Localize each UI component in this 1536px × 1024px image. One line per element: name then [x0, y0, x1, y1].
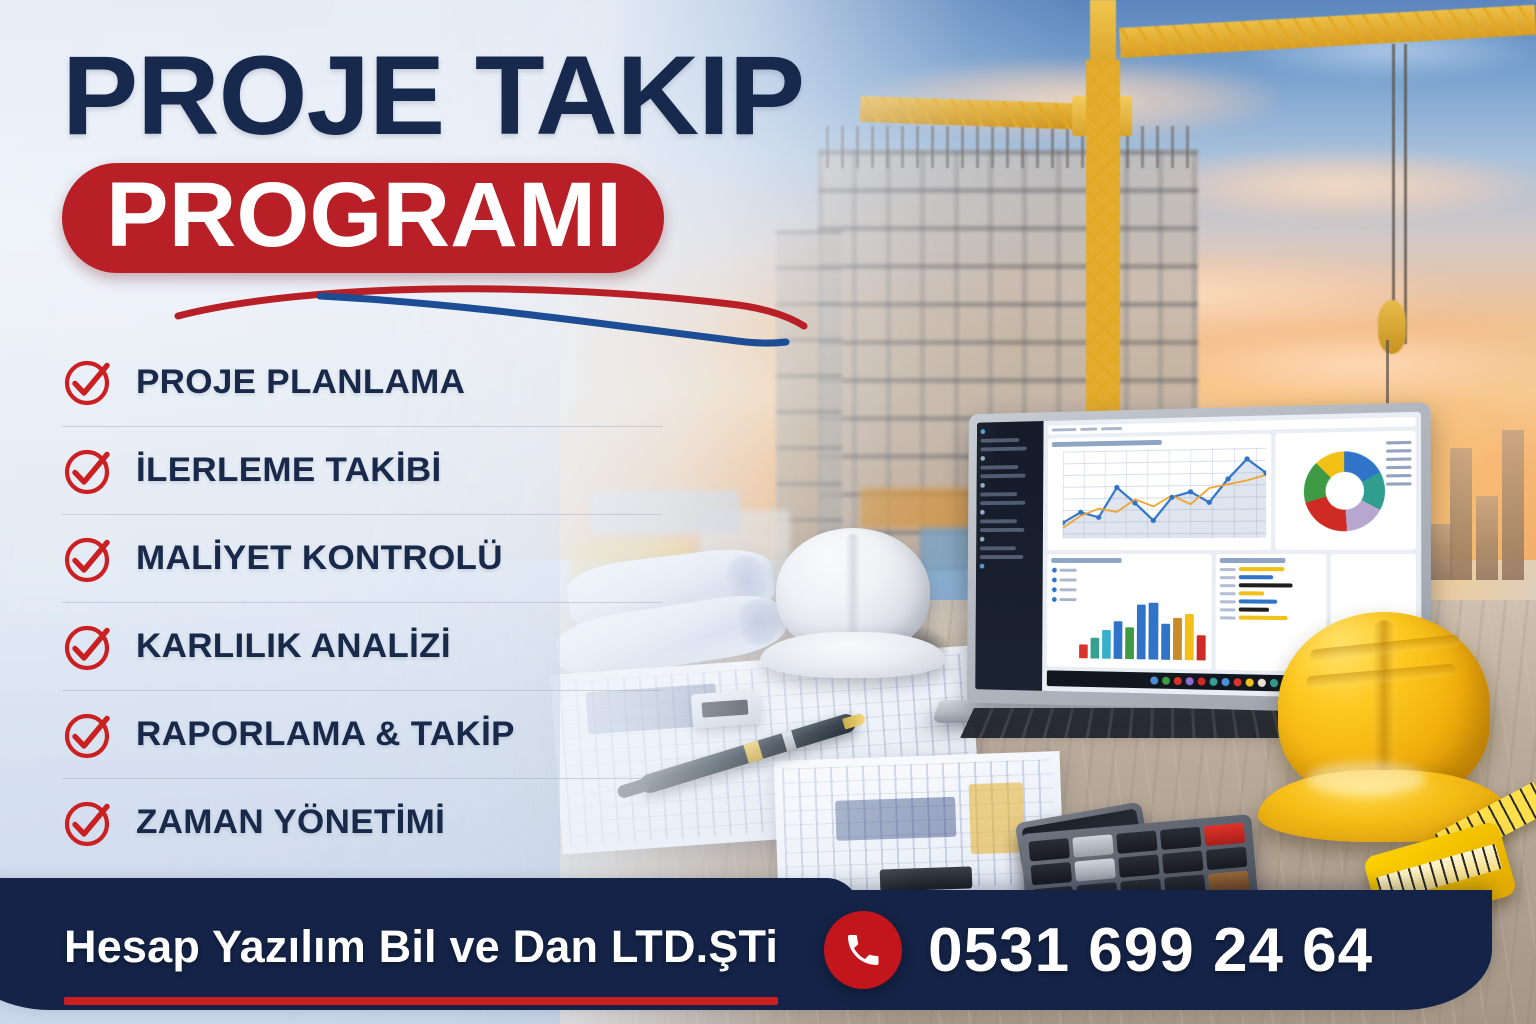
company-name: Hesap Yazılım Bil ve Dan LTD.ŞTi	[64, 921, 778, 973]
check-circle-icon	[62, 797, 114, 849]
check-circle-icon	[62, 356, 114, 408]
check-circle-icon	[62, 621, 114, 673]
check-circle-icon	[62, 445, 114, 497]
feature-label: MALİYET KONTROLÜ	[136, 539, 503, 578]
phone-block[interactable]: 0531 699 24 64	[824, 911, 1373, 989]
promotional-banner: PROJE TAKIP PROGRAMI PROJE PLANLAMA İLER…	[0, 0, 1536, 1024]
feature-label: ZAMAN YÖNETİMİ	[136, 803, 445, 842]
title-block: PROJE TAKIP PROGRAMI	[62, 44, 882, 273]
feature-label: PROJE PLANLAMA	[136, 363, 465, 402]
check-circle-icon	[62, 797, 114, 849]
check-circle-icon	[62, 533, 114, 585]
phone-handset-icon	[824, 911, 902, 989]
check-circle-icon	[62, 621, 114, 673]
feature-item: KARLILIK ANALİZİ	[62, 602, 662, 690]
feature-item: ZAMAN YÖNETİMİ	[62, 778, 662, 866]
feature-label: KARLILIK ANALİZİ	[136, 627, 451, 666]
feature-item: İLERLEME TAKİBİ	[62, 426, 662, 514]
feature-item: PROJE PLANLAMA	[62, 338, 662, 426]
check-circle-icon	[62, 533, 114, 585]
feature-label: İLERLEME TAKİBİ	[136, 451, 442, 490]
check-circle-icon	[62, 709, 114, 761]
check-circle-icon	[62, 709, 114, 761]
feature-item: MALİYET KONTROLÜ	[62, 514, 662, 602]
feature-list: PROJE PLANLAMA İLERLEME TAKİBİ MALİYET K…	[62, 338, 662, 866]
feature-label: RAPORLAMA & TAKİP	[136, 715, 515, 754]
company-underline	[64, 997, 778, 1005]
title-badge: PROGRAMI	[62, 163, 664, 273]
page-title: PROJE TAKIP	[62, 44, 898, 147]
check-circle-icon	[62, 356, 114, 408]
footer-content: Hesap Yazılım Bil ve Dan LTD.ŞTi 0531 69…	[0, 890, 1452, 1010]
feature-item: RAPORLAMA & TAKİP	[62, 690, 662, 778]
check-circle-icon	[62, 445, 114, 497]
footer-bar: Hesap Yazılım Bil ve Dan LTD.ŞTi 0531 69…	[0, 890, 1492, 1010]
title-badge-label: PROGRAMI	[106, 169, 622, 261]
phone-number: 0531 699 24 64	[928, 915, 1373, 986]
company-block: Hesap Yazılım Bil ve Dan LTD.ŞTi	[64, 921, 778, 979]
